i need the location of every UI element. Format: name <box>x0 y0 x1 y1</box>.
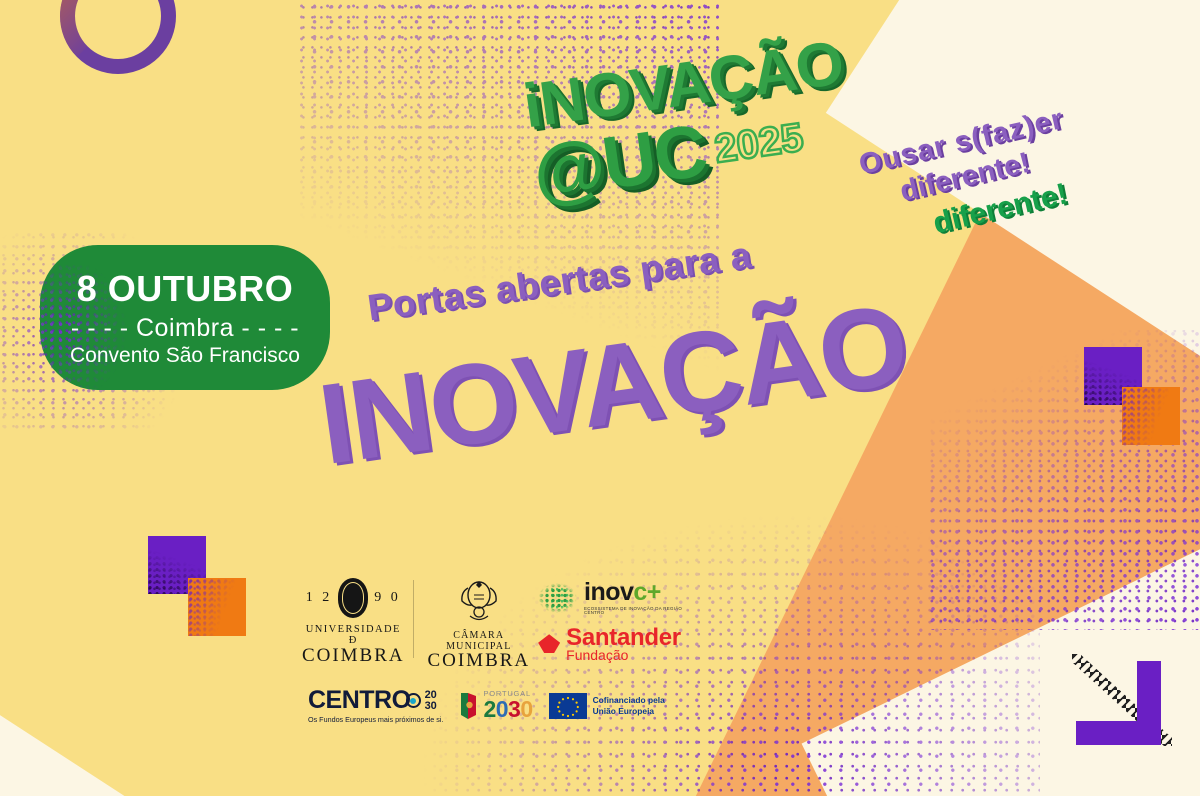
logo-european-union: Cofinanciado pela União Europeia <box>549 693 665 719</box>
santander-text: Santander Fundação <box>566 625 681 663</box>
square-grain-texture <box>1122 387 1180 445</box>
logo-inovc: inovc+ ECOSSISTEMA DE INOVAÇÃO DA REGIÃO… <box>538 580 690 616</box>
orange-square-right <box>1122 387 1180 445</box>
logo-divider <box>413 580 414 658</box>
portugal-flag-icon <box>459 691 479 721</box>
poster-canvas: iNOVAÇÃO @UC 2025 Ousar s(faz)er diferen… <box>0 0 1200 796</box>
camara-name-line2: COIMBRA <box>427 650 530 672</box>
centro-subtitle: Os Fundos Europeus mais próximos de si. <box>308 716 443 723</box>
eu-text: Cofinanciado pela União Europeia <box>593 695 665 716</box>
logo-camara-municipal: CÂMARA MUNICIPAL COIMBRA <box>427 578 530 672</box>
portugal-text: PORTUGAL 2030 <box>483 690 532 721</box>
uc-name-line1: UNIVERSIDADE Ð <box>300 624 407 646</box>
inovc-subtitle: ECOSSISTEMA DE INOVAÇÃO DA REGIÃO CENTRO <box>584 607 690 616</box>
centro-wordmark-row: CENTRO 20 30 <box>308 688 443 713</box>
uc-name-line2: COIMBRA <box>300 645 407 667</box>
centro-year: 20 30 <box>425 690 437 710</box>
logo-universidade-coimbra: 1 2 9 0 UNIVERSIDADE Ð COIMBRA <box>300 578 407 667</box>
inovc-word-main: inov <box>584 578 633 606</box>
inovc-wordmark: inovc+ <box>584 578 661 606</box>
logo-row-primary: 1 2 9 0 UNIVERSIDADE Ð COIMBRA <box>300 578 690 672</box>
centro-dot-icon <box>406 693 421 708</box>
uc-year-right: 9 0 <box>374 590 401 606</box>
inovc-dots-icon <box>538 583 577 613</box>
bracket-horizontal-bar <box>1076 721 1161 745</box>
crest-svg <box>456 578 502 626</box>
uc-seal-row: 1 2 9 0 <box>300 578 407 618</box>
badge-venue: Convento São Francisco <box>70 344 300 368</box>
uc-seal-icon <box>338 578 368 618</box>
orange-square-left <box>188 578 246 636</box>
badge-city: - - - - Coimbra - - - - <box>71 314 299 343</box>
portugal-year: 2030 <box>483 698 532 721</box>
eu-line2: União Europeia <box>593 706 665 717</box>
date-badge: 8 OUTUBRO - - - - Coimbra - - - - Conven… <box>40 245 330 390</box>
logo-centro-2030: CENTRO 20 30 Os Fundos Europeus mais pró… <box>308 688 443 723</box>
camara-name-line1: CÂMARA MUNICIPAL <box>427 630 530 652</box>
camara-crest-icon <box>456 578 502 626</box>
square-grain-texture <box>188 578 246 636</box>
centro-year-top: 20 <box>425 690 437 700</box>
event-title-line2: @UC <box>529 117 710 207</box>
event-year: 2025 <box>712 117 806 169</box>
logo-column-sponsors: inovc+ ECOSSISTEMA DE INOVAÇÃO DA REGIÃO… <box>538 580 690 663</box>
santander-flame-icon <box>538 634 560 653</box>
logo-area: 1 2 9 0 UNIVERSIDADE Ð COIMBRA <box>300 578 690 723</box>
logo-row-funding: CENTRO 20 30 Os Fundos Europeus mais pró… <box>308 688 690 723</box>
logo-santander: Santander Fundação <box>538 625 690 663</box>
centro-year-bottom: 30 <box>425 701 437 711</box>
eu-line1: Cofinanciado pela <box>593 695 665 706</box>
uc-year-left: 1 2 <box>306 590 333 606</box>
portugal-flag-svg <box>459 691 479 721</box>
badge-date: 8 OUTUBRO <box>77 268 294 310</box>
logo-portugal-2030: PORTUGAL 2030 <box>459 690 532 721</box>
eu-flag-icon <box>549 693 587 719</box>
centro-word: CENTRO <box>308 688 411 713</box>
inovc-word-accent: c+ <box>633 578 661 606</box>
inovc-text: inovc+ ECOSSISTEMA DE INOVAÇÃO DA REGIÃO… <box>584 580 690 616</box>
eu-flag-svg <box>549 693 587 719</box>
